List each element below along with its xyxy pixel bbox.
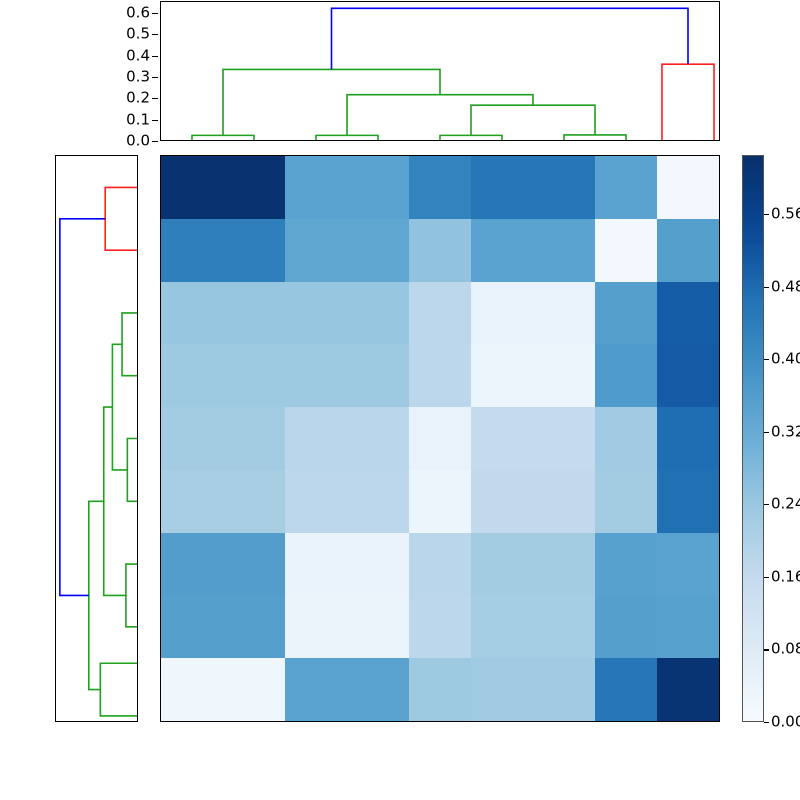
heatmap-cell <box>285 156 347 219</box>
axis-tick-label: 0.3 <box>126 69 150 84</box>
heatmap-cell <box>161 282 223 345</box>
heatmap-cell <box>595 533 657 596</box>
axis-tick-label: 0.6 <box>126 5 150 20</box>
colorbar-tick-label: 0.08 <box>771 642 800 657</box>
column-dendrogram <box>160 1 720 141</box>
heatmap-cell <box>657 470 719 533</box>
heatmap-cell <box>285 533 347 596</box>
heatmap-cell <box>285 282 347 345</box>
dendrogram-link <box>60 219 105 596</box>
heatmap-cell <box>285 407 347 470</box>
heatmap-cell <box>285 470 347 533</box>
dendrogram-link <box>331 8 688 69</box>
dendrogram-link <box>192 135 254 140</box>
heatmap-cell <box>347 658 409 721</box>
heatmap-cell <box>471 282 533 345</box>
dendrogram-link <box>126 564 137 627</box>
heatmap-cell <box>347 470 409 533</box>
heatmap-cell <box>409 282 471 345</box>
dendrogram-link <box>122 313 137 376</box>
heatmap-cell <box>347 533 409 596</box>
heatmap-cell <box>347 156 409 219</box>
heatmap-cell <box>533 156 595 219</box>
heatmap-cell <box>285 595 347 658</box>
colorbar-tick-label: 0.40 <box>771 352 800 367</box>
heatmap-cell <box>223 282 285 345</box>
heatmap-cell <box>409 595 471 658</box>
axis-tick-mark <box>152 56 158 57</box>
heatmap-cell <box>533 344 595 407</box>
axis-tick-label: 0.5 <box>126 27 150 42</box>
dendrogram-link <box>223 69 440 135</box>
axis-tick-mark <box>152 120 158 121</box>
heatmap-cell <box>285 344 347 407</box>
colorbar-tick-label: 0.48 <box>771 279 800 294</box>
dendrogram-link <box>89 501 104 689</box>
heatmap-cell <box>409 658 471 721</box>
heatmap-cell <box>471 470 533 533</box>
heatmap-cell <box>471 407 533 470</box>
heatmap-cell <box>223 470 285 533</box>
heatmap-cell <box>657 407 719 470</box>
heatmap-cell <box>471 658 533 721</box>
heatmap-cell <box>285 219 347 282</box>
axis-tick-mark <box>152 98 158 99</box>
heatmap-cell <box>533 282 595 345</box>
axis-tick-mark <box>152 34 158 35</box>
dendrogram-link <box>105 187 137 250</box>
dendrogram-link <box>112 344 127 470</box>
heatmap-cell <box>471 344 533 407</box>
colorbar-tick-label: 0.16 <box>771 569 800 584</box>
dendrogram-link <box>347 95 533 136</box>
dendrogram-link <box>440 135 502 140</box>
heatmap-cell <box>595 470 657 533</box>
heatmap-cell <box>285 658 347 721</box>
colorbar-gradient <box>742 155 764 722</box>
heatmap-cell <box>533 595 595 658</box>
axis-tick-mark <box>152 77 158 78</box>
column-dendrogram-canvas <box>161 2 719 140</box>
heatmap-cell <box>409 407 471 470</box>
colorbar-tick-mark <box>764 359 769 360</box>
colorbar-container: 0.000.080.160.240.320.400.480.56 <box>742 155 798 722</box>
heatmap-cell <box>161 219 223 282</box>
heatmap-cell <box>533 470 595 533</box>
row-dendrogram-canvas <box>56 156 137 721</box>
dendrogram-link <box>564 135 626 140</box>
heatmap-cell <box>223 219 285 282</box>
heatmap-cell <box>595 282 657 345</box>
dendrogram-link <box>662 64 714 140</box>
heatmap-cell <box>657 658 719 721</box>
heatmap-cell <box>657 344 719 407</box>
heatmap-cell <box>595 407 657 470</box>
heatmap-cell <box>657 282 719 345</box>
heatmap-cell <box>161 533 223 596</box>
heatmap-cell <box>533 533 595 596</box>
heatmap-cell <box>595 658 657 721</box>
heatmap-cell <box>223 658 285 721</box>
heatmap-cell <box>471 533 533 596</box>
dendrogram-link <box>471 105 595 135</box>
colorbar-tick-mark <box>764 504 769 505</box>
heatmap-cell <box>223 533 285 596</box>
heatmap-cell <box>533 658 595 721</box>
colorbar-tick-mark <box>764 432 769 433</box>
heatmap-cell <box>409 470 471 533</box>
axis-tick-label: 0.2 <box>126 91 150 106</box>
row-dendrogram <box>55 155 138 722</box>
heatmap-cell <box>657 595 719 658</box>
colorbar-tick-mark <box>764 287 769 288</box>
heatmap-cell <box>223 344 285 407</box>
colorbar-tick-label: 0.00 <box>771 715 800 730</box>
heatmap-cell <box>409 156 471 219</box>
colorbar-tick-mark <box>764 577 769 578</box>
heatmap-cell <box>409 344 471 407</box>
heatmap-cell <box>223 595 285 658</box>
axis-tick-label: 0.4 <box>126 48 150 63</box>
heatmap-cell <box>471 156 533 219</box>
axis-tick-label: 0.1 <box>126 112 150 127</box>
heatmap-cell <box>223 156 285 219</box>
heatmap-cell <box>595 595 657 658</box>
heatmap-cell <box>595 156 657 219</box>
colorbar-tick-mark <box>764 214 769 215</box>
heatmap-cell <box>409 219 471 282</box>
colorbar-tick-mark <box>764 649 769 650</box>
heatmap-cell <box>161 470 223 533</box>
heatmap-cell <box>347 282 409 345</box>
heatmap-cell <box>595 219 657 282</box>
heatmap-cell <box>223 407 285 470</box>
colorbar-tick-label: 0.32 <box>771 424 800 439</box>
heatmap-cell <box>161 344 223 407</box>
heatmap-cell <box>161 658 223 721</box>
heatmap-cell <box>471 595 533 658</box>
heatmap-cell <box>347 407 409 470</box>
colorbar-ticks: 0.000.080.160.240.320.400.480.56 <box>764 155 798 722</box>
heatmap-cell <box>347 219 409 282</box>
heatmap-cell <box>657 156 719 219</box>
colorbar-tick-label: 0.24 <box>771 497 800 512</box>
heatmap-cell <box>161 407 223 470</box>
dendrogram-link <box>104 407 126 595</box>
heatmap-cell <box>347 344 409 407</box>
heatmap-cell <box>533 219 595 282</box>
heatmap-grid <box>160 155 720 722</box>
heatmap-cell <box>347 595 409 658</box>
dendrogram-link <box>127 439 137 502</box>
heatmap-cell <box>657 533 719 596</box>
heatmap-cell <box>657 219 719 282</box>
colorbar-tick-label: 0.56 <box>771 206 800 221</box>
heatmap-cell <box>409 533 471 596</box>
column-dendrogram-axis: 0.00.10.20.30.40.50.6 <box>100 1 158 141</box>
axis-tick-mark <box>152 13 158 14</box>
colorbar-tick-mark <box>764 722 769 723</box>
clustermap-figure: 0.00.10.20.30.40.50.6 0.000.080.160.240.… <box>0 0 800 800</box>
dendrogram-link <box>316 135 378 140</box>
heatmap-cell <box>161 156 223 219</box>
heatmap-cell <box>471 219 533 282</box>
heatmap-cell <box>161 595 223 658</box>
dendrogram-link <box>100 663 137 716</box>
heatmap-cell <box>595 344 657 407</box>
axis-tick-mark <box>152 141 158 142</box>
axis-tick-label: 0.0 <box>126 134 150 149</box>
heatmap-cell <box>533 407 595 470</box>
